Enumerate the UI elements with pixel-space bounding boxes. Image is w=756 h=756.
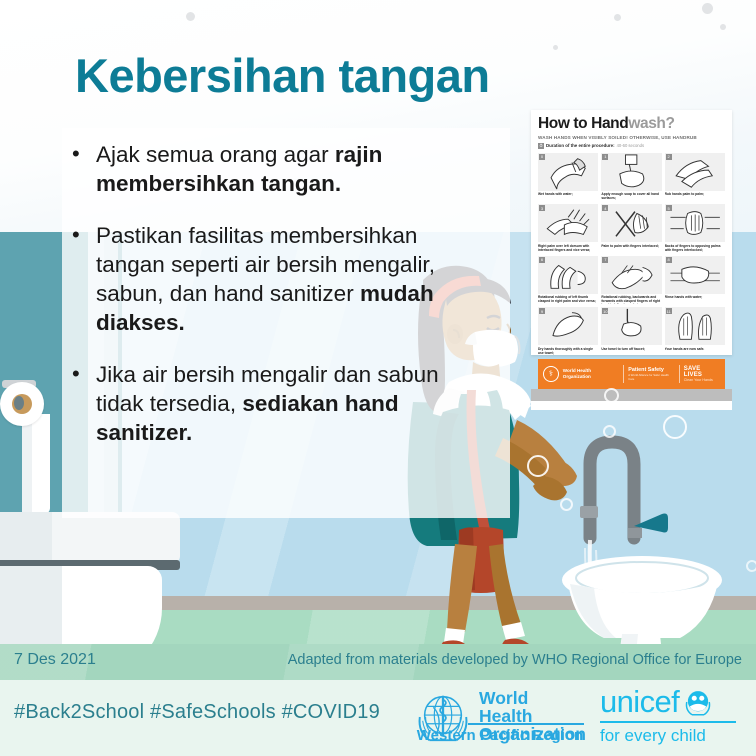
soap-bubble xyxy=(527,455,549,477)
who-logo-line1: World Health xyxy=(479,690,586,726)
hand-step-drawing xyxy=(538,153,598,191)
decorative-bubble xyxy=(720,24,726,30)
soap-bubble xyxy=(746,560,756,572)
soap-bubble xyxy=(604,388,619,403)
hand-step-drawing xyxy=(665,204,725,242)
poster-duration-value: 40-60 seconds xyxy=(617,143,644,148)
handwash-step: 10 Use towel to turn off faucet; xyxy=(601,307,661,356)
handwash-step: 8 Rinse hands with water; xyxy=(665,256,725,305)
hashtags: #Back2School #SafeSchools #COVID19 xyxy=(14,701,380,724)
list-item: • Pastikan fasilitas membersihkan tangan… xyxy=(72,221,492,338)
handwash-step: 3 Right palm over left dorsum with inter… xyxy=(538,204,598,253)
unicef-wordmark: unicef xyxy=(600,686,679,717)
list-item: • Ajak semua orang agar rajin membersihk… xyxy=(72,140,492,199)
decorative-bubble xyxy=(553,45,558,50)
page-title: Kebersihan tangan xyxy=(75,52,490,99)
bullet-list: • Ajak semua orang agar rajin membersihk… xyxy=(72,140,492,469)
hand-step-drawing xyxy=(601,256,661,294)
handwash-step: 11 Your hands are now safe. xyxy=(665,307,725,356)
bullet-marker: • xyxy=(72,360,82,448)
hand-step-drawing xyxy=(665,153,725,191)
list-item: • Jika air bersih mengalir dan sabun tid… xyxy=(72,360,492,448)
source-credit: Adapted from materials developed by WHO … xyxy=(288,652,742,668)
poster-subtitle: WASH HANDS WHEN VISIBLY SOILED! OTHERWIS… xyxy=(538,135,725,140)
who-logo-region: Western Pacific Region xyxy=(414,727,586,744)
soap-bubble xyxy=(603,425,616,438)
handwash-step: 7 Rotational rubbing, backwards and forw… xyxy=(601,256,661,305)
poster-patient-safety-sub: A World Alliance for Safer Health Care xyxy=(628,373,675,381)
bullet-marker: • xyxy=(72,221,82,338)
pedestal-sink-icon xyxy=(560,420,740,680)
poster-duration-label: Duration of the entire procedure: xyxy=(546,143,615,148)
unicef-tagline: for every child xyxy=(600,726,750,746)
hand-step-drawing xyxy=(665,256,725,294)
soap-bubble xyxy=(663,415,687,439)
faucet-icon xyxy=(590,442,634,538)
handwash-step: 5 Backs of fingers to opposing palms wit… xyxy=(665,204,725,253)
poster-save-lives: SAVE LIVES xyxy=(684,366,720,378)
soap-bubble xyxy=(560,498,573,511)
poster-canvas: How to Handwash? WASH HANDS WHEN VISIBLY… xyxy=(0,0,756,756)
poster-title: How to Handwash? xyxy=(538,116,725,132)
unicef-logo-divider xyxy=(600,721,736,723)
hand-step-drawing xyxy=(601,153,661,191)
bullet-text: Pastikan fasilitas membersihkan tangan s… xyxy=(96,221,492,338)
bullet-text: Jika air bersih mengalir dan sabun tidak… xyxy=(96,360,492,448)
unicef-logo: unicef for every child xyxy=(600,686,750,746)
hand-step-drawing xyxy=(601,204,661,242)
handwash-step: 1 Apply enough soap to cover all hand su… xyxy=(601,153,661,202)
unicef-emblem-icon xyxy=(683,687,713,717)
hand-step-drawing xyxy=(665,307,725,345)
hand-step-drawing xyxy=(601,307,661,345)
handwash-step: 4 Palm to palm with fingers interlaced; xyxy=(601,204,661,253)
hand-step-drawing xyxy=(538,204,598,242)
bullet-marker: • xyxy=(72,140,82,199)
decorative-bubble xyxy=(186,12,195,21)
publication-date: 7 Des 2021 xyxy=(14,651,96,669)
handwash-step: 2 Rub hands palm to palm; xyxy=(665,153,725,202)
bullet-text: Ajak semua orang agar rajin membersihkan… xyxy=(96,140,492,199)
poster-save-lives-sub: Clean Your Hands xyxy=(684,378,720,382)
decorative-bubble xyxy=(614,14,621,21)
clock-icon: ⏱ xyxy=(538,143,544,149)
handwash-step: 0 Wet hands with water; xyxy=(538,153,598,202)
decorative-bubble xyxy=(702,3,713,14)
who-logo-divider xyxy=(468,723,584,725)
